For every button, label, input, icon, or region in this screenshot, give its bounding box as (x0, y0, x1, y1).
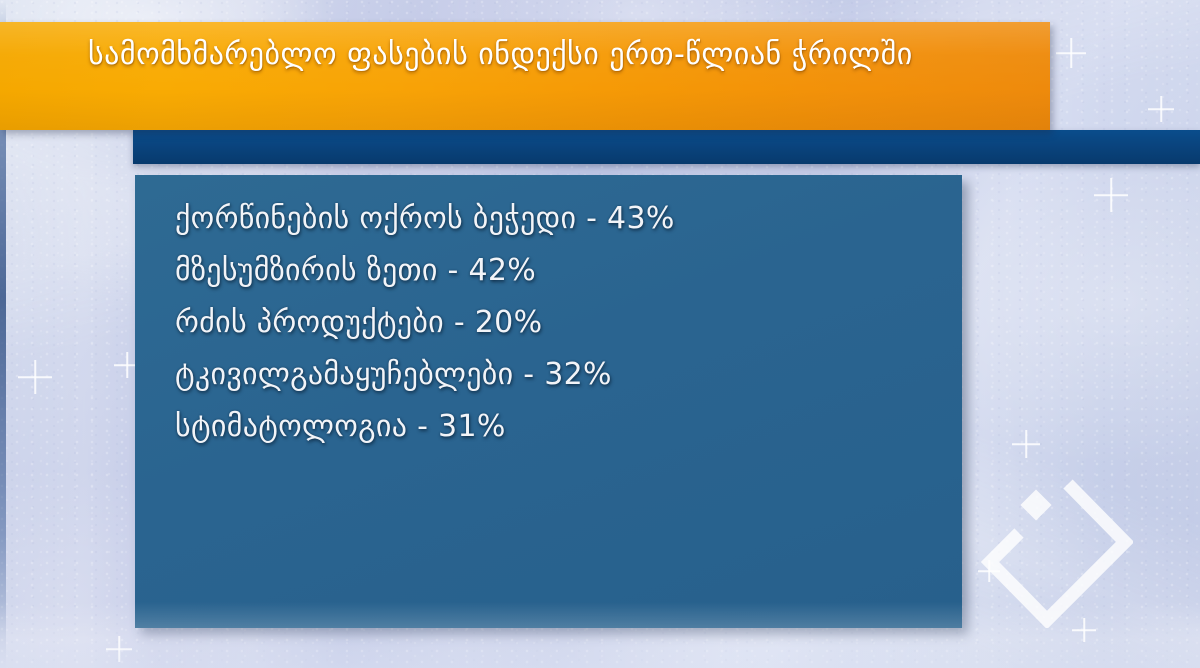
broadcast-graphic-screen: სამომხმარებლო ფასების ინდექსი ერთ-წლიან … (0, 0, 1200, 668)
content-panel: ქორწინების ოქროს ბეჭედი - 43% მზესუმზირი… (135, 175, 962, 628)
statistics-list: ქორწინების ოქროს ბეჭედი - 43% მზესუმზირი… (175, 193, 942, 453)
list-item: მზესუმზირის ზეთი - 42% (175, 245, 942, 297)
list-item: ქორწინების ოქროს ბეჭედი - 43% (175, 193, 942, 245)
header-underbar (133, 130, 1200, 164)
bottom-fade-band (0, 602, 1200, 668)
list-item: სტიმატოლოგია - 31% (175, 401, 942, 453)
list-item: ტკივილგამაყუჩებლები - 32% (175, 349, 942, 401)
page-title: სამომხმარებლო ფასების ინდექსი ერთ-წლიან … (88, 0, 913, 108)
list-item: რძის პროდუქტები - 20% (175, 297, 942, 349)
